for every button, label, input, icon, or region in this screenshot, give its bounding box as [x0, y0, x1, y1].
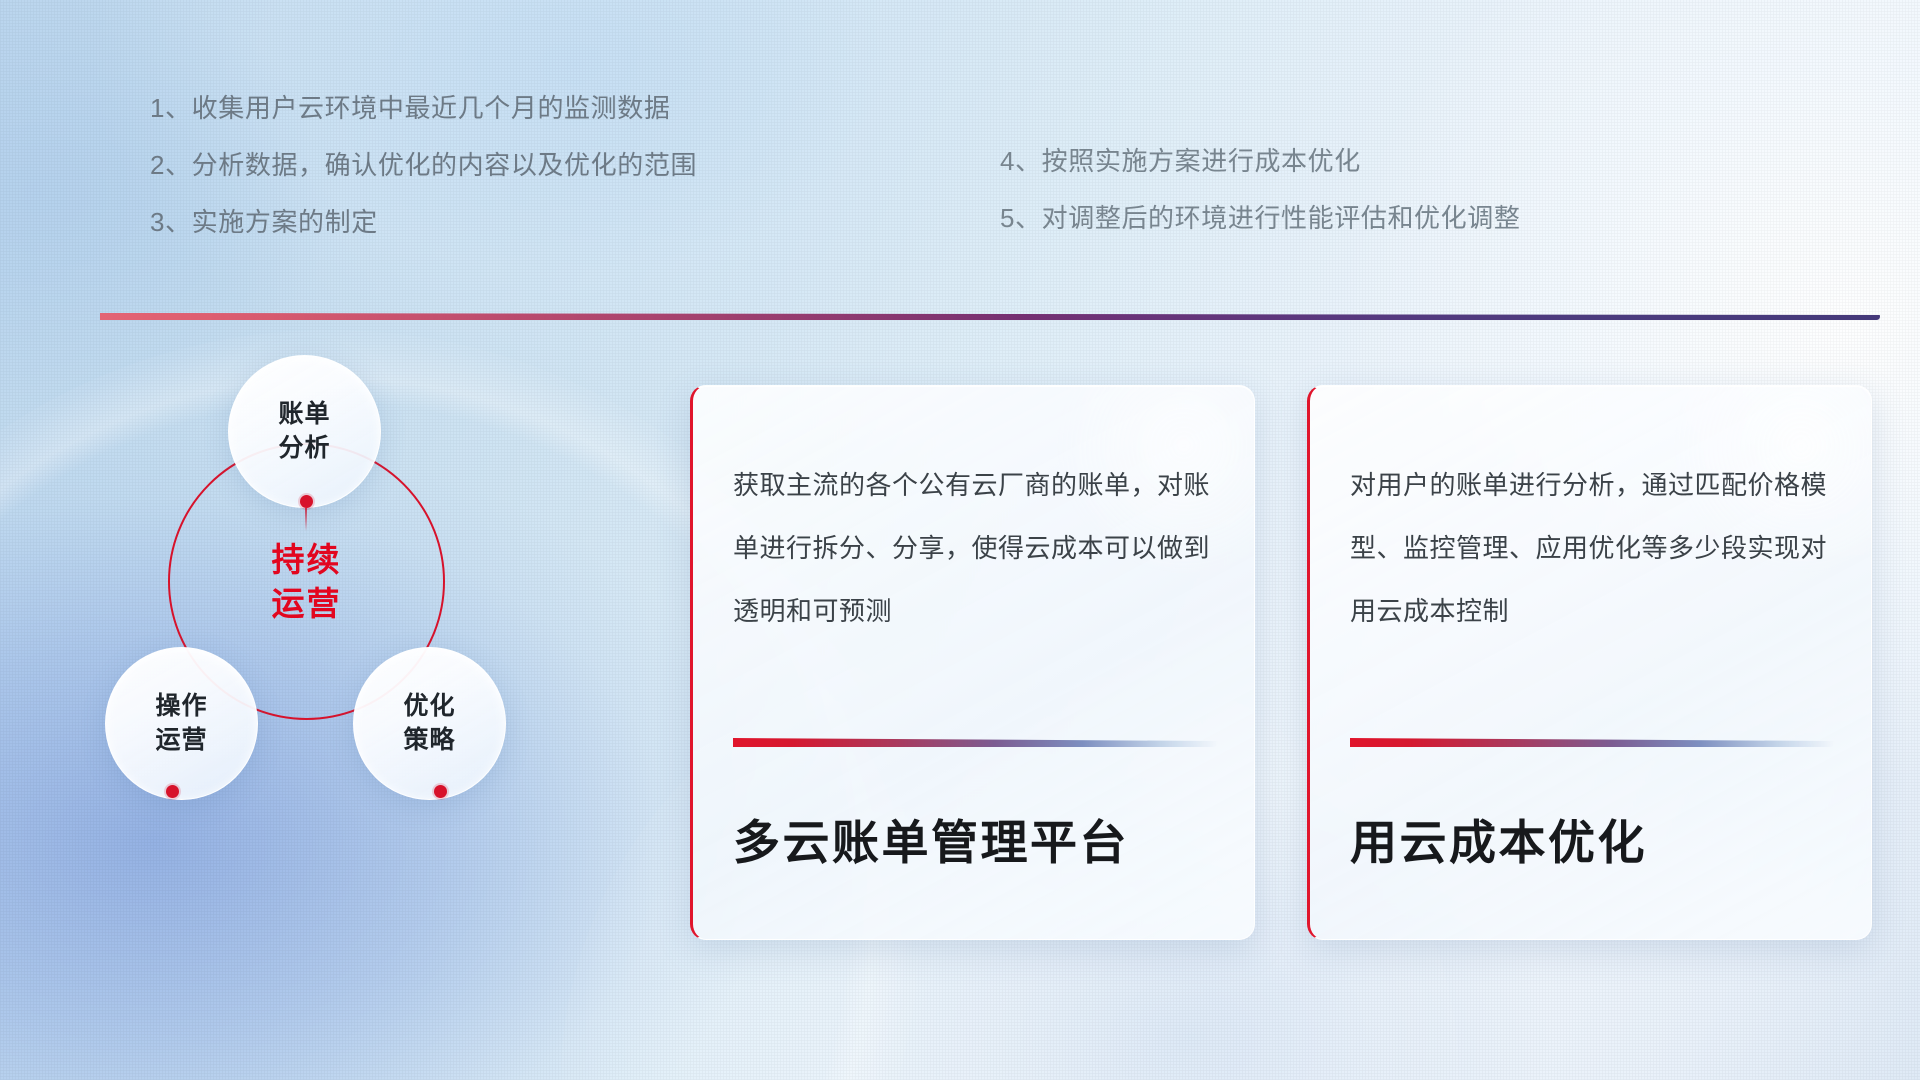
step-item: 3、实施方案的制定: [150, 209, 697, 235]
diagram-node-label-line1: 账单: [278, 398, 330, 432]
card-title: 用云成本优化: [1350, 804, 1647, 873]
card-divider: [1350, 738, 1835, 747]
steps-list-left: 1、收集用户云环境中最近几个月的监测数据 2、分析数据，确认优化的内容以及优化的…: [150, 95, 697, 266]
diagram-node-label-line1: 优化: [403, 690, 455, 724]
slide-content: 1、收集用户云环境中最近几个月的监测数据 2、分析数据，确认优化的内容以及优化的…: [0, 0, 1920, 1080]
feature-card-multicloud-billing[interactable]: 获取主流的各个公有云厂商的账单，对账单进行拆分、分享，使得云成本可以做到透明和可…: [690, 385, 1255, 940]
diagram-dot-top: [300, 495, 313, 508]
diagram-connector-top: [305, 505, 307, 531]
card-title: 多云账单管理平台: [733, 804, 1129, 873]
diagram-node-label-line2: 运营: [155, 724, 207, 758]
feature-card-cloud-cost-optimization[interactable]: 对用户的账单进行分析，通过匹配价格模型、监控管理、应用优化等多少段实现对用云成本…: [1307, 385, 1872, 940]
step-item: 2、分析数据，确认优化的内容以及优化的范围: [150, 152, 697, 178]
continuous-operation-diagram: 持续 运营 账单 分析 操作 运营 优化 策略: [95, 355, 615, 955]
diagram-node-bill-analysis[interactable]: 账单 分析: [228, 355, 381, 508]
diagram-dot-bottom-left: [166, 785, 179, 798]
diagram-node-label-line2: 策略: [403, 724, 455, 758]
card-body-text: 获取主流的各个公有云厂商的账单，对账单进行拆分、分享，使得云成本可以做到透明和可…: [733, 454, 1224, 643]
card-divider: [733, 738, 1218, 747]
diagram-node-operations[interactable]: 操作 运营: [105, 647, 258, 800]
diagram-dot-bottom-right: [434, 785, 447, 798]
step-item: 1、收集用户云环境中最近几个月的监测数据: [150, 95, 697, 121]
section-divider: [100, 313, 1880, 320]
diagram-node-label-line2: 分析: [278, 432, 330, 466]
diagram-node-label-line1: 操作: [155, 690, 207, 724]
card-body-text: 对用户的账单进行分析，通过匹配价格模型、监控管理、应用优化等多少段实现对用云成本…: [1350, 454, 1841, 643]
step-item: 4、按照实施方案进行成本优化: [1000, 148, 1520, 174]
step-item: 5、对调整后的环境进行性能评估和优化调整: [1000, 205, 1520, 231]
diagram-node-optimization-strategy[interactable]: 优化 策略: [353, 647, 506, 800]
steps-list-right: 4、按照实施方案进行成本优化 5、对调整后的环境进行性能评估和优化调整: [1000, 148, 1520, 262]
